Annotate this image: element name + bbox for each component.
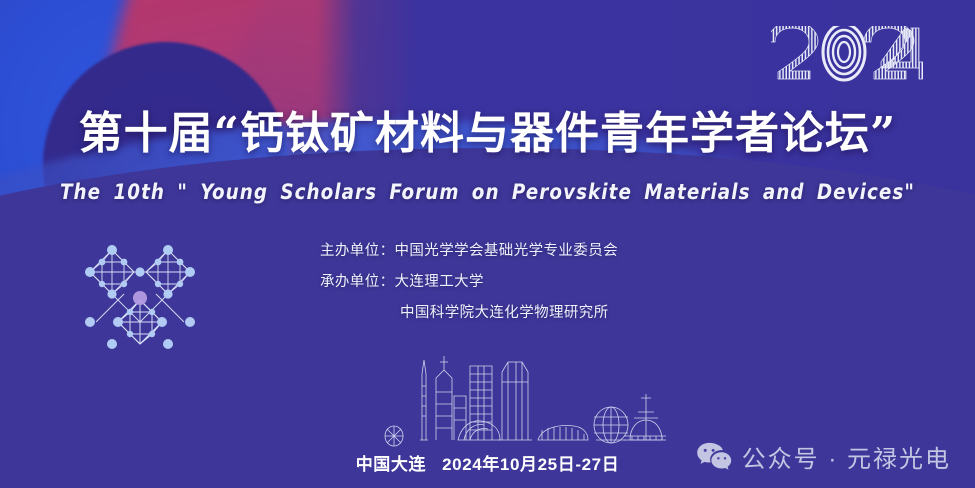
poster-banner: 第十届“钙钛矿材料与器件青年学者论坛” The 10th " Young Sch… <box>0 0 975 488</box>
page-title-chinese: 第十届“钙钛矿材料与器件青年学者论坛” <box>0 112 975 156</box>
event-location: 中国大连 <box>356 455 426 474</box>
wechat-account-name: 公众号 · 元禄光电 <box>742 439 951 474</box>
organizer-host: 主办单位：中国光学学会基础光学专业委员会 <box>320 236 618 267</box>
page-title-english: The 10th " Young Scholars Forum on Perov… <box>15 180 961 204</box>
organizer-coorganizer-secondary: 中国科学院大连化学物理研究所 <box>320 298 618 329</box>
wechat-watermark: 公众号 · 元禄光电 <box>696 439 951 474</box>
perovskite-lattice-icon <box>68 232 213 364</box>
organizer-block: 主办单位：中国光学学会基础光学专业委员会 承办单位：大连理工大学 中国科学院大连… <box>320 236 618 329</box>
organizer-coorganizer: 承办单位：大连理工大学 <box>320 267 618 298</box>
wechat-icon <box>696 442 732 472</box>
lattice-center-atom <box>133 291 147 305</box>
city-skyline-graphic <box>366 352 666 450</box>
event-dates: 2024年10月25日-27日 <box>442 455 619 474</box>
year-badge-2024 <box>771 26 923 82</box>
